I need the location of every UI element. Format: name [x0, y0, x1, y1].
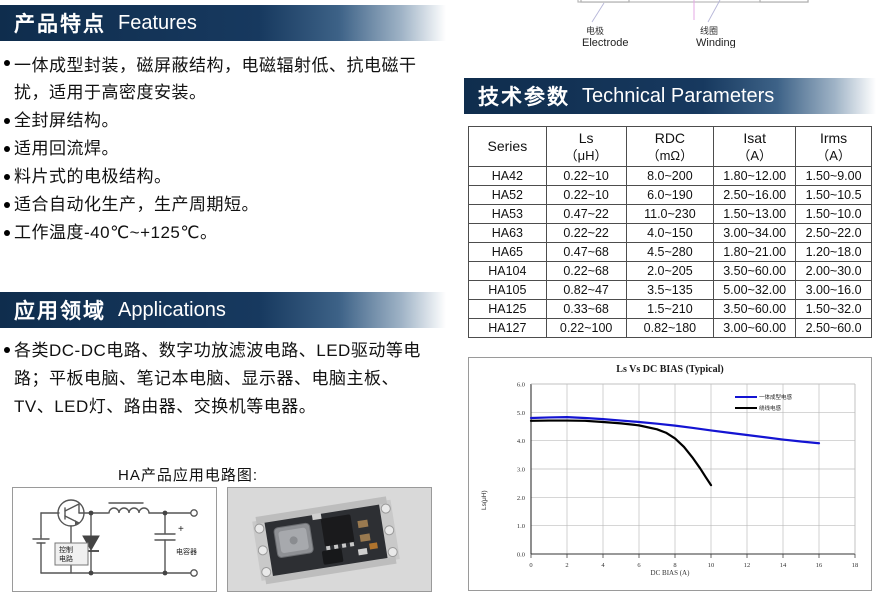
cell-rdc: 4.5~280 — [626, 243, 714, 262]
chart-canvas: 0.01.02.03.04.05.06.0024681012141618 — [469, 358, 873, 592]
svg-text:4: 4 — [601, 562, 605, 569]
table-row: HA63 0.22~22 4.0~150 3.00~34.00 2.50~22.… — [469, 224, 872, 243]
legend-label-molded: 一体成型电感 — [759, 393, 792, 401]
svg-text:16: 16 — [816, 562, 823, 569]
application-circuit-image: 控制 电路 + 电容器 — [12, 487, 217, 592]
winding-label-cn: 线圈 — [700, 25, 718, 36]
svg-text:6: 6 — [637, 562, 641, 569]
table-row: HA42 0.22~10 8.0~200 1.80~12.00 1.50~9.0… — [469, 167, 872, 186]
table-row: HA105 0.82~47 3.5~135 5.00~32.00 3.00~16… — [469, 281, 872, 300]
pcb-module-photo — [227, 487, 432, 592]
chart-title: Ls Vs DC BIAS (Typical) — [469, 364, 871, 375]
winding-label-en: Winding — [696, 37, 736, 48]
cross-section-diagram: 电极 Electrode 线圈 Winding — [548, 0, 876, 48]
chart-legend-entry-1: 绕线电感 — [735, 404, 781, 412]
cell-ls: 0.22~10 — [546, 186, 626, 205]
legend-swatch-wirewound — [735, 407, 757, 410]
cell-ls: 0.33~68 — [546, 300, 626, 319]
svg-text:2.0: 2.0 — [517, 495, 525, 502]
cell-isat: 5.00~32.00 — [714, 281, 796, 300]
cell-series: HA125 — [469, 300, 547, 319]
list-item: 适合自动化生产，生产周期短。 — [4, 191, 448, 218]
bullet-dot-icon — [4, 202, 10, 208]
cell-irms: 2.50~60.0 — [796, 319, 872, 338]
technical-parameters-table: Series Ls （μH） RDC （mΩ） Isat （A） Irms （A… — [468, 126, 872, 338]
feature-text: 料片式的电极结构。 — [14, 163, 172, 190]
applications-title-cn: 应用领域 — [14, 295, 106, 325]
technical-header-bar: 技术参数 Technical Parameters — [464, 78, 876, 114]
col-header-ls: Ls （μH） — [546, 127, 626, 167]
technical-title-cn: 技术参数 — [478, 81, 570, 111]
cell-irms: 1.20~18.0 — [796, 243, 872, 262]
features-list: 一体成型封装，磁屏蔽结构，电磁辐射低、抗电磁干扰，适用于高密度安装。 全封屏结构… — [4, 52, 448, 247]
cell-series: HA105 — [469, 281, 547, 300]
table-row: HA65 0.47~68 4.5~280 1.80~21.00 1.20~18.… — [469, 243, 872, 262]
cell-ls: 0.82~47 — [546, 281, 626, 300]
applications-title-en: Applications — [118, 299, 226, 322]
bullet-dot-icon — [4, 174, 10, 180]
feature-text: 全封屏结构。 — [14, 107, 119, 134]
table-row: HA52 0.22~10 6.0~190 2.50~16.00 1.50~10.… — [469, 186, 872, 205]
svg-text:0.0: 0.0 — [517, 552, 525, 559]
col-header-rdc: RDC （mΩ） — [626, 127, 714, 167]
cell-irms: 3.00~16.0 — [796, 281, 872, 300]
applications-list: 各类DC-DC电路、数字功放滤波电路、LED驱动等电路；平板电脑、笔记本电脑、显… — [4, 337, 448, 422]
cell-irms: 1.50~9.00 — [796, 167, 872, 186]
technical-title-en: Technical Parameters — [582, 85, 774, 108]
polarity-plus-label: + — [178, 524, 184, 535]
application-text: 各类DC-DC电路、数字功放滤波电路、LED驱动等电路；平板电脑、笔记本电脑、显… — [14, 337, 434, 421]
cell-rdc: 4.0~150 — [626, 224, 714, 243]
control-circuit-label-2: 电路 — [59, 554, 73, 563]
svg-text:8: 8 — [673, 562, 676, 569]
electrode-label-en: Electrode — [582, 37, 628, 48]
svg-text:3.0: 3.0 — [517, 467, 525, 474]
legend-swatch-molded — [735, 396, 757, 399]
cell-ls: 0.22~100 — [546, 319, 626, 338]
svg-text:6.0: 6.0 — [517, 382, 525, 389]
electrode-label-cn: 电极 — [586, 25, 604, 36]
ls-vs-dcbias-chart: Ls Vs DC BIAS (Typical) 0.01.02.03.04.05… — [468, 357, 872, 591]
cell-isat: 2.50~16.00 — [714, 186, 796, 205]
cell-ls: 0.22~22 — [546, 224, 626, 243]
cell-irms: 2.50~22.0 — [796, 224, 872, 243]
circuit-diagram-caption: HA产品应用电路图: — [118, 464, 258, 485]
capacitor-label: 电容器 — [176, 547, 197, 556]
feature-text: 适合自动化生产，生产周期短。 — [14, 191, 259, 218]
table-row: HA104 0.22~68 2.0~205 3.50~60.00 2.00~30… — [469, 262, 872, 281]
list-item: 一体成型封装，磁屏蔽结构，电磁辐射低、抗电磁干扰，适用于高密度安装。 — [4, 52, 448, 106]
cell-rdc: 3.5~135 — [626, 281, 714, 300]
col-header-irms: Irms （A） — [796, 127, 872, 167]
cell-isat: 1.80~12.00 — [714, 167, 796, 186]
cell-isat: 3.50~60.00 — [714, 262, 796, 281]
cell-series: HA63 — [469, 224, 547, 243]
table-row: HA125 0.33~68 1.5~210 3.50~60.00 1.50~32… — [469, 300, 872, 319]
cell-isat: 1.80~21.00 — [714, 243, 796, 262]
cell-isat: 1.50~13.00 — [714, 205, 796, 224]
svg-text:18: 18 — [852, 562, 859, 569]
features-title-cn: 产品特点 — [14, 8, 106, 38]
cell-irms: 2.00~30.0 — [796, 262, 872, 281]
features-header-bar: 产品特点 Features — [0, 5, 446, 41]
control-circuit-label: 控制 — [59, 545, 73, 554]
cell-irms: 1.50~10.5 — [796, 186, 872, 205]
chart-y-axis-label: Ls(μH) — [481, 490, 488, 510]
chart-x-axis-label: DC BIAS (A) — [469, 569, 871, 577]
table-row: HA127 0.22~100 0.82~180 3.00~60.00 2.50~… — [469, 319, 872, 338]
svg-text:1.0: 1.0 — [517, 523, 525, 530]
bullet-dot-icon — [4, 347, 10, 353]
bullet-dot-icon — [4, 118, 10, 124]
svg-text:4.0: 4.0 — [517, 438, 525, 445]
table-body: HA42 0.22~10 8.0~200 1.80~12.00 1.50~9.0… — [469, 167, 872, 338]
cell-rdc: 6.0~190 — [626, 186, 714, 205]
svg-text:0: 0 — [529, 562, 532, 569]
cell-rdc: 1.5~210 — [626, 300, 714, 319]
feature-text: 工作温度-40℃~+125℃。 — [14, 219, 217, 246]
svg-text:10: 10 — [708, 562, 715, 569]
cell-ls: 0.22~68 — [546, 262, 626, 281]
cell-isat: 3.50~60.00 — [714, 300, 796, 319]
cell-rdc: 11.0~230 — [626, 205, 714, 224]
list-item: 各类DC-DC电路、数字功放滤波电路、LED驱动等电路；平板电脑、笔记本电脑、显… — [4, 337, 448, 421]
cell-rdc: 0.82~180 — [626, 319, 714, 338]
svg-text:5.0: 5.0 — [517, 410, 525, 417]
cell-series: HA127 — [469, 319, 547, 338]
bullet-dot-icon — [4, 60, 10, 66]
cell-ls: 0.22~10 — [546, 167, 626, 186]
svg-text:2: 2 — [565, 562, 568, 569]
svg-text:12: 12 — [744, 562, 751, 569]
table-row: HA53 0.47~22 11.0~230 1.50~13.00 1.50~10… — [469, 205, 872, 224]
cell-irms: 1.50~10.0 — [796, 205, 872, 224]
col-header-isat: Isat （A） — [714, 127, 796, 167]
table-header-row: Series Ls （μH） RDC （mΩ） Isat （A） Irms （A… — [469, 127, 872, 167]
feature-text: 适用回流焊。 — [14, 135, 119, 162]
list-item: 料片式的电极结构。 — [4, 163, 448, 190]
svg-text:14: 14 — [780, 562, 787, 569]
col-header-series: Series — [469, 127, 547, 167]
cell-series: HA104 — [469, 262, 547, 281]
cell-rdc: 8.0~200 — [626, 167, 714, 186]
bullet-dot-icon — [4, 230, 10, 236]
legend-label-wirewound: 绕线电感 — [759, 404, 781, 412]
list-item: 适用回流焊。 — [4, 135, 448, 162]
cell-isat: 3.00~60.00 — [714, 319, 796, 338]
cell-ls: 0.47~68 — [546, 243, 626, 262]
cell-ls: 0.47~22 — [546, 205, 626, 224]
cell-series: HA42 — [469, 167, 547, 186]
cell-series: HA52 — [469, 186, 547, 205]
cell-irms: 1.50~32.0 — [796, 300, 872, 319]
cell-series: HA65 — [469, 243, 547, 262]
list-item: 工作温度-40℃~+125℃。 — [4, 219, 448, 246]
cell-series: HA53 — [469, 205, 547, 224]
feature-text: 一体成型封装，磁屏蔽结构，电磁辐射低、抗电磁干扰，适用于高密度安装。 — [14, 52, 434, 106]
list-item: 全封屏结构。 — [4, 107, 448, 134]
cell-rdc: 2.0~205 — [626, 262, 714, 281]
datasheet-page: 电极 Electrode 线圈 Winding 产品特点 Features 一体… — [0, 0, 876, 595]
bullet-dot-icon — [4, 146, 10, 152]
cell-isat: 3.00~34.00 — [714, 224, 796, 243]
chart-legend-entry-0: 一体成型电感 — [735, 393, 792, 401]
features-title-en: Features — [118, 12, 197, 35]
applications-header-bar: 应用领域 Applications — [0, 292, 446, 328]
